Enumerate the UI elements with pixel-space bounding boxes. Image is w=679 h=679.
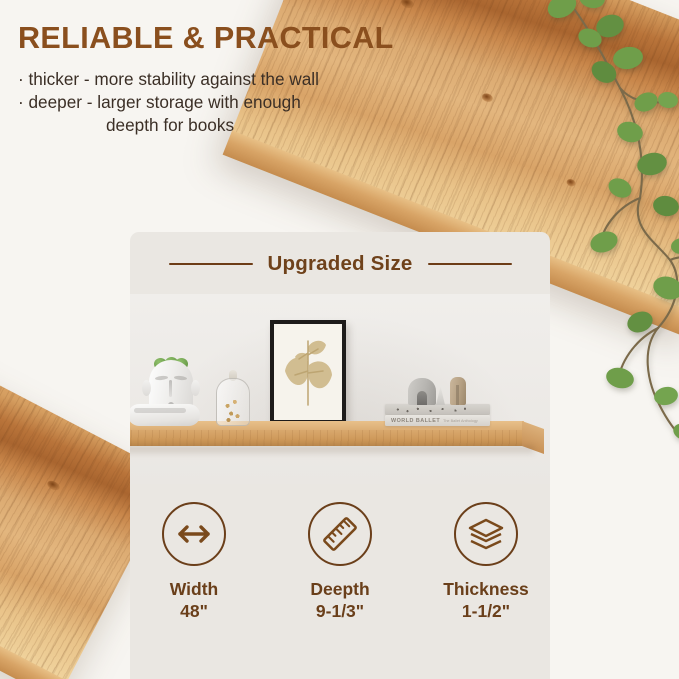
headline-block: RELIABLE & PRACTICAL · thicker - more st… xyxy=(18,22,448,137)
spec-icon-ring xyxy=(162,502,226,566)
planter-ear-left xyxy=(142,380,151,396)
reclining-sculpture-decor xyxy=(130,404,200,426)
framed-botanical-art xyxy=(270,320,346,424)
spec-icon-ring xyxy=(308,502,372,566)
ruler-icon xyxy=(321,515,359,553)
width-arrow-icon xyxy=(176,523,212,545)
cloche-dried-flowers xyxy=(224,398,242,424)
section-title: Upgraded Size xyxy=(268,252,413,276)
shelf-front-face xyxy=(130,430,524,446)
spec-value: 48" xyxy=(138,600,250,623)
feature-bullet-thicker: · thicker - more stability against the w… xyxy=(18,68,448,91)
planter-ear-right xyxy=(191,380,200,396)
wood-figurine-decor xyxy=(450,377,466,405)
spec-item-width: Width 48" xyxy=(138,502,250,623)
planter-nose xyxy=(169,380,172,397)
spec-item-thickness: Thickness 1-1/2" xyxy=(430,502,542,623)
spec-label: Thickness xyxy=(430,579,542,600)
spec-item-depth: Deepth 9-1/3" xyxy=(284,502,396,623)
wood-knot-icon xyxy=(400,0,415,10)
specification-row: Width 48" xyxy=(130,502,550,623)
feature-bullet-deeper: · deeper - larger storage with enough xyxy=(18,91,448,114)
vine-plant-decoration xyxy=(470,0,679,442)
spec-value: 9-1/3" xyxy=(284,600,396,623)
wood-knot-icon xyxy=(46,479,61,492)
shelf-drop-shadow xyxy=(130,446,534,456)
leaf-artwork-icon xyxy=(279,331,337,413)
layers-icon xyxy=(467,518,505,550)
spec-icon-ring xyxy=(454,502,518,566)
glass-cloche-decor xyxy=(216,370,250,426)
marketing-image-canvas: RELIABLE & PRACTICAL · thicker - more st… xyxy=(0,0,679,679)
spec-label: Deepth xyxy=(284,579,396,600)
art-mat xyxy=(274,324,342,420)
heading-rule-left xyxy=(169,263,253,266)
feature-bullet-deeper-cont: deepth for books xyxy=(18,114,448,137)
arch-sculpture-decor xyxy=(408,378,436,405)
book-title-text: WORLD BALLET xyxy=(391,418,440,424)
book-cover-pattern xyxy=(393,407,473,413)
spec-label: Width xyxy=(138,579,250,600)
spec-value: 1-1/2" xyxy=(430,600,542,623)
feature-bullet-list: · thicker - more stability against the w… xyxy=(18,68,448,137)
page-title: RELIABLE & PRACTICAL xyxy=(18,22,448,54)
